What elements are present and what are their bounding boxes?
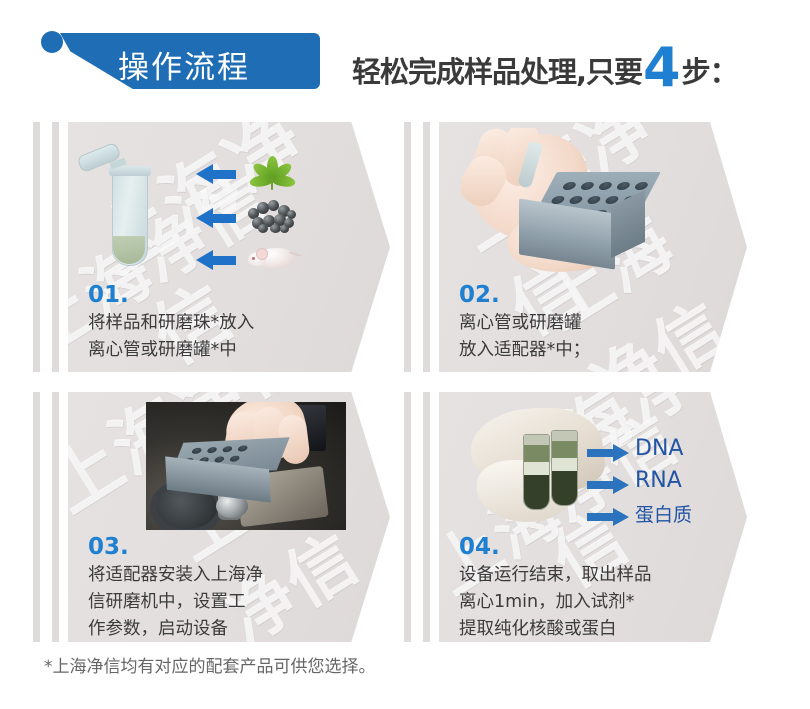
step-number-02: 02. [459, 282, 500, 308]
infographic-page: 操作流程 轻松完成样品处理,只要 4 步： 上海净信 上海净信 [0, 0, 810, 709]
step-number-01: 01. [88, 282, 129, 308]
output-label-protein: 蛋白质 [635, 500, 692, 527]
step-text-01: 将样品和研磨珠*放入 离心管或研磨罐*中 [88, 310, 368, 364]
arrow-right-icon [587, 508, 629, 526]
section-title: 操作流程 [118, 42, 308, 87]
page-header: 操作流程 轻松完成样品处理,只要 4 步： [0, 0, 810, 112]
step-card-01[interactable]: 上海净信 上海净信 [68, 122, 390, 372]
leaf-icon [250, 150, 294, 190]
output-label-dna: DNA [635, 436, 683, 461]
card-accent-bar-3b [52, 392, 59, 642]
footnote-text: *上海净信均有对应的配套产品可供您选择。 [44, 652, 376, 677]
tagline-prefix: 轻松完成样品处理,只要 [352, 49, 642, 91]
grinding-beads-icon [246, 196, 298, 232]
centrifuge-tube-icon [90, 140, 180, 280]
step-text-04: 设备运行结束，取出样品 离心1min，加入试剂* 提取纯化核酸或蛋白 [459, 562, 729, 643]
mouse-icon [248, 240, 300, 274]
hand-holding-adapter-photo [461, 128, 691, 288]
decorative-dot-icon [41, 31, 63, 53]
tagline-step-count: 4 [643, 46, 681, 89]
step-card-02[interactable]: 上海净信 上海净信 [439, 122, 747, 372]
card-accent-bar-4a [404, 392, 411, 642]
arrow-left-icon [196, 250, 236, 270]
arrow-left-icon [196, 208, 236, 228]
output-label-rna: RNA [635, 468, 682, 493]
sample-vial-icon [523, 434, 550, 510]
step-card-03[interactable]: 上海净信 上海净信 03. [68, 392, 390, 642]
card-accent-bar-4b [423, 392, 430, 642]
card-accent-bar-3a [33, 392, 40, 642]
arrow-right-icon [587, 444, 629, 462]
card-accent-bar-1b [52, 122, 59, 372]
step-number-03: 03. [88, 534, 129, 560]
sample-vial-icon [551, 430, 578, 506]
step-text-02: 离心管或研磨罐 放入适配器*中； [459, 310, 719, 364]
arrow-right-icon [587, 476, 629, 494]
grinder-installation-photo [146, 402, 346, 530]
card-accent-bar-2a [404, 122, 411, 372]
card-accent-bar-1a [33, 122, 40, 372]
step-card-04[interactable]: 上海净信 上海净信 DNA RNA 蛋白质 04. 设备运行结束，取出样品 离心… [439, 392, 747, 642]
card-accent-bar-2b [423, 122, 430, 372]
arrow-left-icon [196, 164, 236, 184]
step-text-03: 将适配器安装入上海净 信研磨机中，设置工 作参数，启动设备 [88, 562, 358, 643]
page-tagline: 轻松完成样品处理,只要 4 步： [352, 42, 738, 91]
step-number-04: 04. [459, 534, 500, 560]
tagline-suffix: 步： [682, 49, 738, 91]
